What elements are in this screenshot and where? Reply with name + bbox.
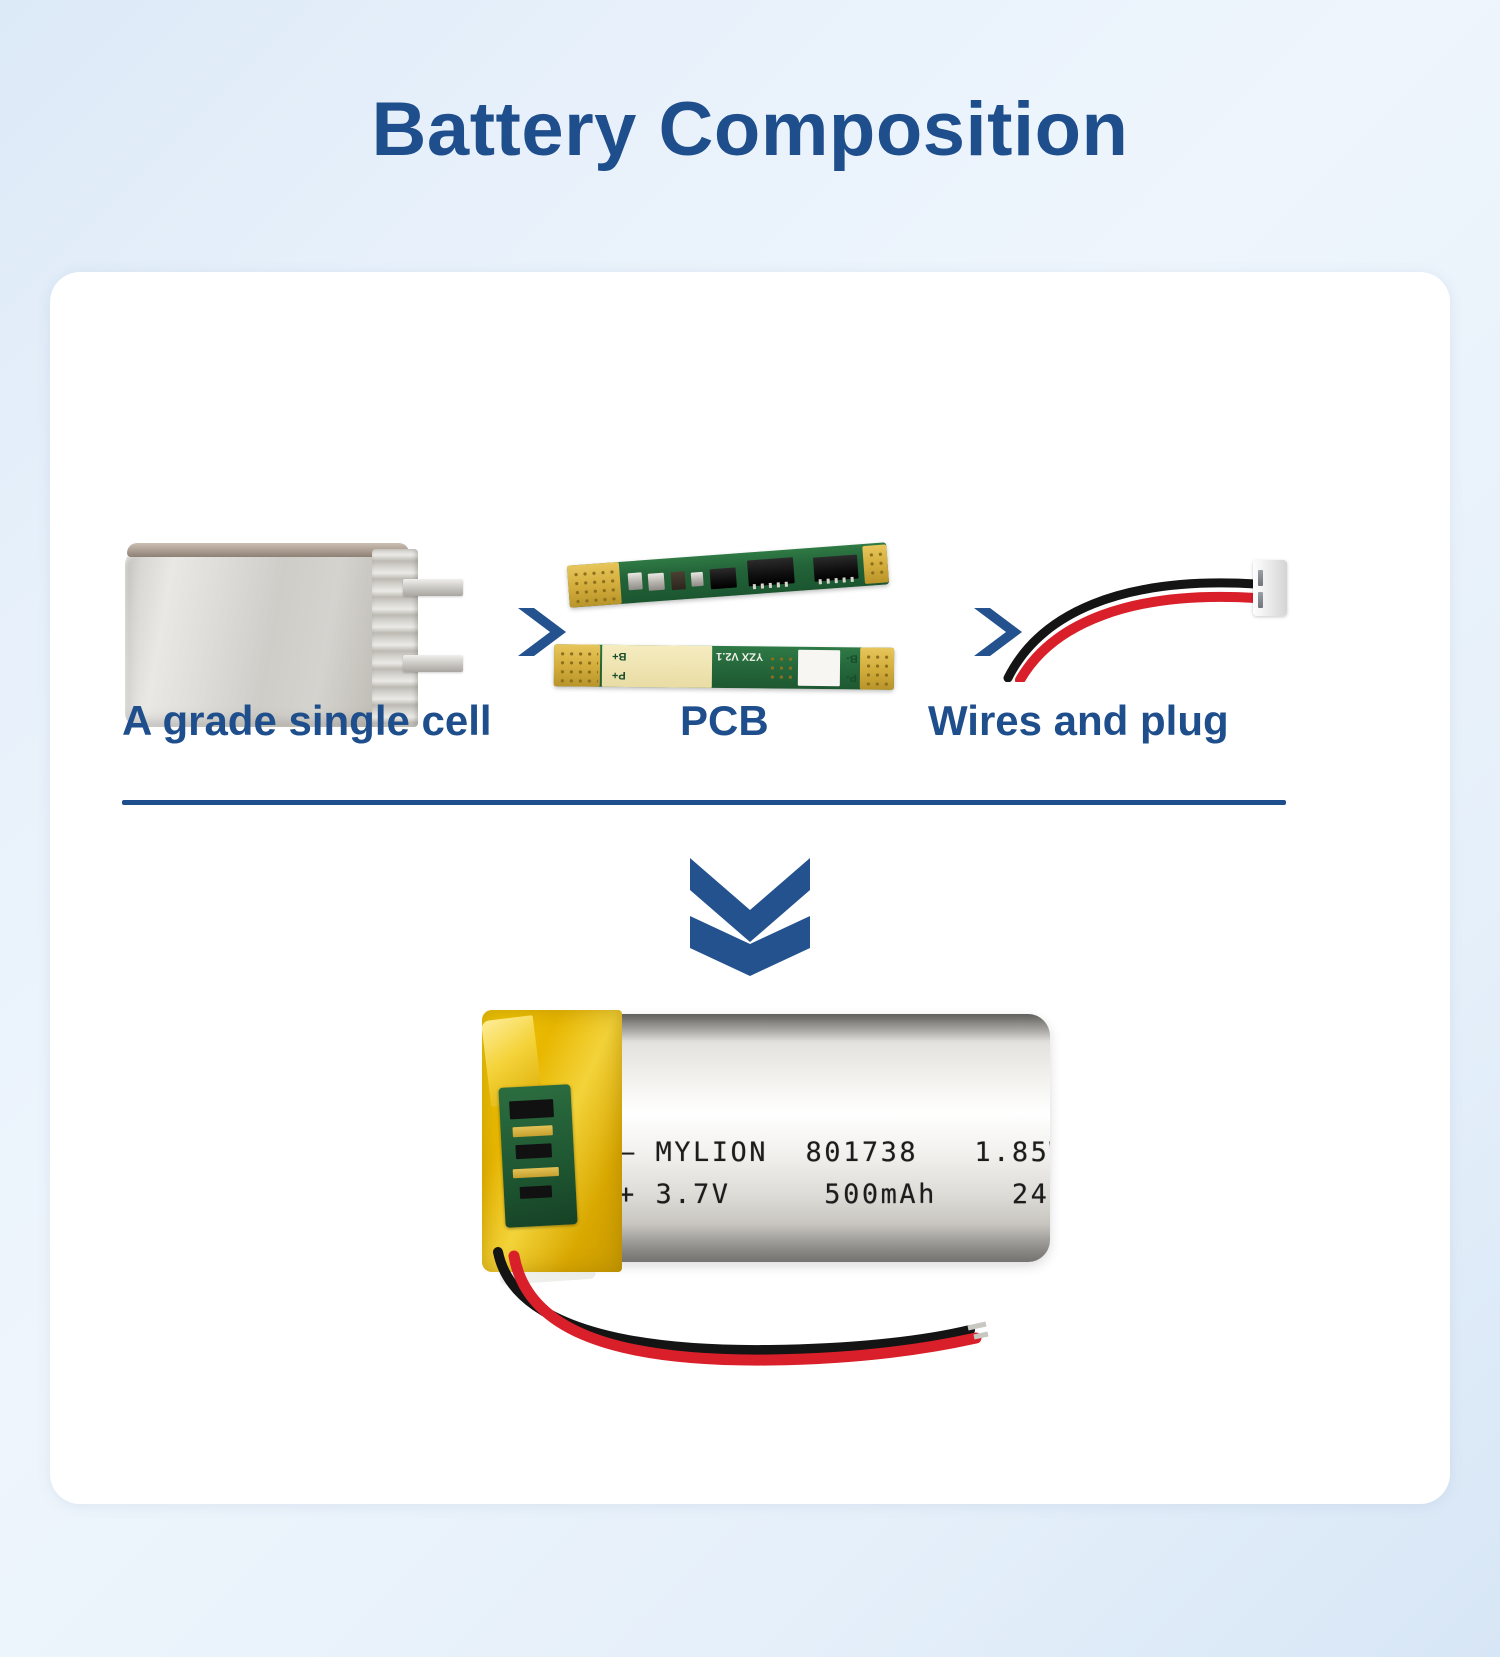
pcb-ic-small: [710, 567, 737, 589]
label-pcb: PCB: [680, 697, 769, 745]
pcb-pin: [835, 578, 838, 583]
pcb-silk-b-plus: B+: [612, 650, 626, 662]
pcb-through-holes-left: [569, 565, 620, 604]
double-chevron-down-icon: [686, 854, 814, 976]
red-wire: [1020, 597, 1256, 680]
cell-top-edge: [127, 543, 409, 557]
pcb-pin: [827, 579, 830, 584]
pcb-pin: [842, 577, 845, 582]
pcb-resistor-1: [628, 572, 643, 590]
page-title: Battery Composition: [0, 0, 1500, 168]
protection-circuit-board-photo: B+ P+ YZX V2.1 B- P-: [550, 554, 910, 719]
section-divider: [122, 800, 1286, 805]
pcb-pin: [761, 583, 764, 588]
pcb-white-pad: [798, 650, 840, 686]
component-labels-row: A grade single cell PCB Wires and plug: [50, 697, 1450, 767]
battery-output-wires: [470, 1246, 990, 1366]
battery-print-line-1: — MYLION 801738 1.85Wh: [618, 1132, 1050, 1174]
pcb-silk-p-minus: P-: [846, 671, 857, 683]
pcb-silk-p-plus: P+: [612, 669, 626, 681]
pcb-pin: [769, 583, 772, 588]
finished-battery-photo: — MYLION 801738 1.85Wh + 3.7V 500mAh 240…: [410, 1014, 1050, 1374]
pcb-pin: [753, 584, 756, 589]
pcb-bottom-view: B+ P+ YZX V2.1 B- P-: [554, 644, 894, 690]
label-a-grade-single-cell: A grade single cell: [122, 697, 492, 745]
battery-red-wire-tip: [974, 1334, 988, 1337]
components-row: B+ P+ YZX V2.1 B- P-: [50, 402, 1450, 662]
jst-plug-connector: [1253, 560, 1287, 616]
plug-pin-slot-1: [1258, 570, 1263, 586]
pcb-pin: [819, 579, 822, 584]
internal-component-2: [520, 1185, 553, 1199]
label-wires-and-plug: Wires and plug: [928, 697, 1229, 745]
internal-pad-2: [513, 1167, 559, 1178]
cell-tab-negative: [403, 655, 463, 672]
pcb-resistor-2: [648, 573, 665, 591]
pcb-top-view: [567, 542, 889, 607]
pcb-through-holes-right-2: [862, 650, 892, 686]
internal-component: [515, 1143, 552, 1159]
pcb-pin: [785, 582, 788, 587]
pcb-through-holes-right: [864, 547, 888, 581]
pcb-via-field: [766, 652, 794, 682]
battery-internal-pcb: [498, 1084, 577, 1228]
pcb-resistor-4: [691, 572, 704, 587]
pcb-through-holes-left-2: [556, 647, 598, 683]
battery-black-wire-tip: [968, 1324, 986, 1328]
pcb-silk-b-minus: B-: [846, 652, 858, 664]
composition-card: B+ P+ YZX V2.1 B- P-: [50, 272, 1450, 1504]
pcb-resistor-3: [671, 571, 686, 590]
cell-tab-positive: [403, 579, 463, 596]
pcb-pin: [850, 577, 853, 582]
wire-harness-photo: [1000, 552, 1310, 682]
internal-pad-1: [512, 1125, 552, 1137]
internal-ic: [509, 1099, 554, 1119]
pcb-pin: [777, 582, 780, 587]
battery-black-wire: [498, 1252, 970, 1350]
pcb-silk-board-mark: YZX V2.1: [716, 650, 763, 662]
plug-pin-slot-2: [1258, 592, 1263, 608]
battery-print-line-2: + 3.7V 500mAh 2406: [618, 1174, 1050, 1216]
